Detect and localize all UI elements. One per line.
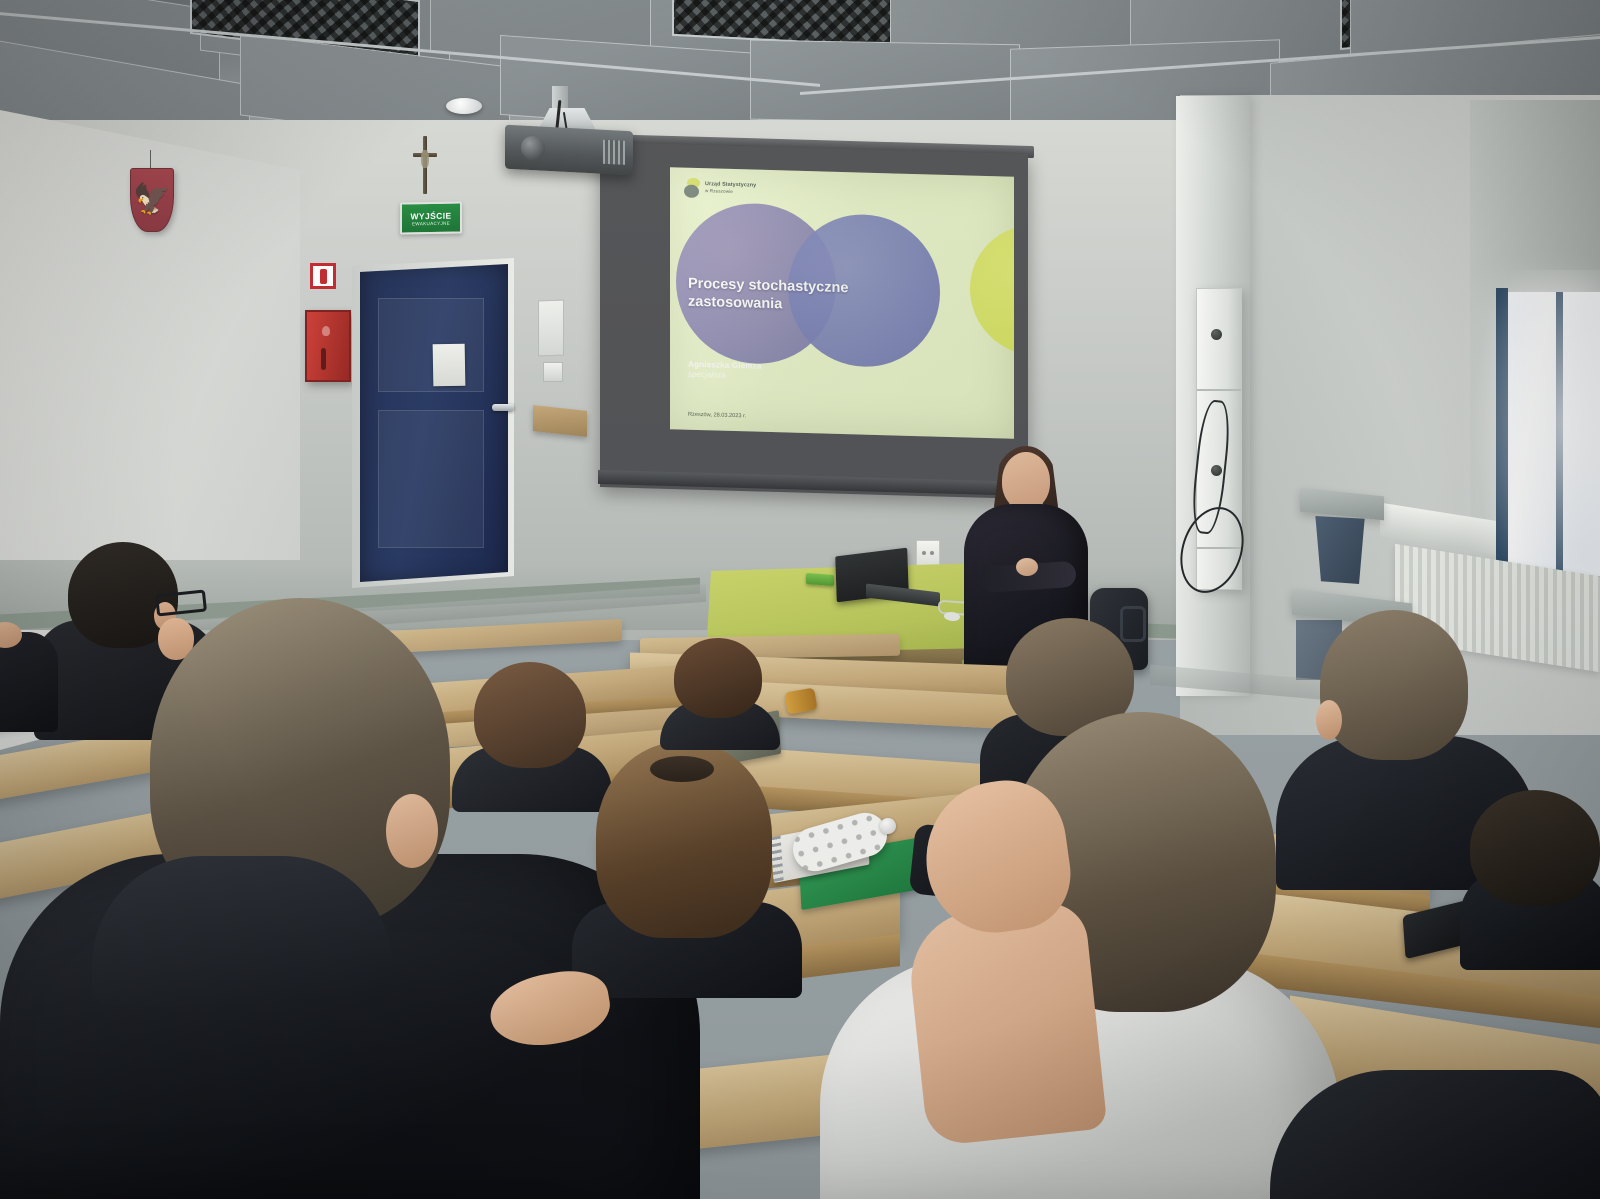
student-far-right xyxy=(1460,790,1600,970)
student-center-back-head xyxy=(674,638,762,718)
slide-author-role: specjalista xyxy=(688,370,762,381)
extinguisher-icon xyxy=(320,269,327,284)
student-foreground-left-hood xyxy=(92,856,392,1006)
slide-blob-yellow xyxy=(970,224,1014,358)
wall-mounted-wood-block xyxy=(533,405,587,437)
hair-tie-icon xyxy=(650,756,714,782)
statistical-office-logo-icon xyxy=(684,178,701,198)
student-foreground-left-ear xyxy=(386,794,438,868)
slide-logo: Urząd Statystyczny w Rzeszowie xyxy=(684,178,756,200)
logo-line2: w Rzeszowie xyxy=(705,188,733,194)
exit-sign-line2: EWAKUACYJNE xyxy=(412,220,450,226)
window xyxy=(1500,292,1600,582)
window-frame-mid xyxy=(1556,292,1563,580)
side-chair-1[interactable] xyxy=(1312,516,1368,584)
student-white-shirt xyxy=(820,688,1340,1199)
slide-date: Rzeszów, 28.03.2023 r. xyxy=(688,412,746,420)
lecture-hall-photo: 🦅 WYJŚCIE EWAKUACYJNE Urząd Statystyczny… xyxy=(0,0,1600,1199)
presentation-slide: Urząd Statystyczny w Rzeszowie Procesy s… xyxy=(670,167,1014,439)
wall-notice-plate xyxy=(538,300,564,357)
slide-author: Agnieszka Glemza specjalista xyxy=(688,360,762,381)
presenter-hand xyxy=(1016,558,1038,576)
crucifix-icon xyxy=(413,136,437,194)
student-far-right-head xyxy=(1470,790,1600,906)
student-bottom-right xyxy=(1270,1030,1600,1199)
wall-power-socket[interactable] xyxy=(916,540,940,568)
student-white-shirt-arm xyxy=(904,899,1107,1147)
slide-logo-text: Urząd Statystyczny w Rzeszowie xyxy=(705,181,756,196)
student-right-hood-ear xyxy=(1316,700,1342,740)
projector xyxy=(505,125,633,176)
eagle-icon: 🦅 xyxy=(133,185,170,215)
student-hands-bottom xyxy=(470,946,650,1066)
door-handle[interactable] xyxy=(492,404,514,411)
door-notice-paper xyxy=(433,344,466,387)
light-switch[interactable] xyxy=(543,362,563,382)
student-mid-left-head xyxy=(474,662,586,768)
smoke-detector xyxy=(446,98,482,114)
presenter-head xyxy=(1002,452,1050,510)
student-center-back xyxy=(660,638,780,748)
emblem-pin xyxy=(150,150,151,170)
emergency-exit-sign: WYJŚCIE EWAKUACYJNE xyxy=(400,201,462,234)
student-bottom-right-body xyxy=(1270,1070,1600,1199)
student-hands-bottom-hand xyxy=(485,964,615,1054)
fire-hose-cabinet[interactable] xyxy=(305,310,351,382)
polish-coat-of-arms: 🦅 xyxy=(130,168,174,232)
window-frame-left xyxy=(1496,288,1508,588)
cabinet-handle[interactable] xyxy=(321,348,326,370)
projector-vent xyxy=(603,140,625,165)
slide-title: Procesy stochastyczne zastosowania xyxy=(688,276,898,317)
slide-title-line2: zastosowania xyxy=(688,293,782,312)
green-phone[interactable] xyxy=(806,573,834,586)
lecture-hall-door[interactable] xyxy=(360,264,508,582)
student-right-hood-head xyxy=(1320,610,1468,760)
projector-lens-icon xyxy=(521,135,545,160)
fire-extinguisher-sign xyxy=(310,263,336,289)
